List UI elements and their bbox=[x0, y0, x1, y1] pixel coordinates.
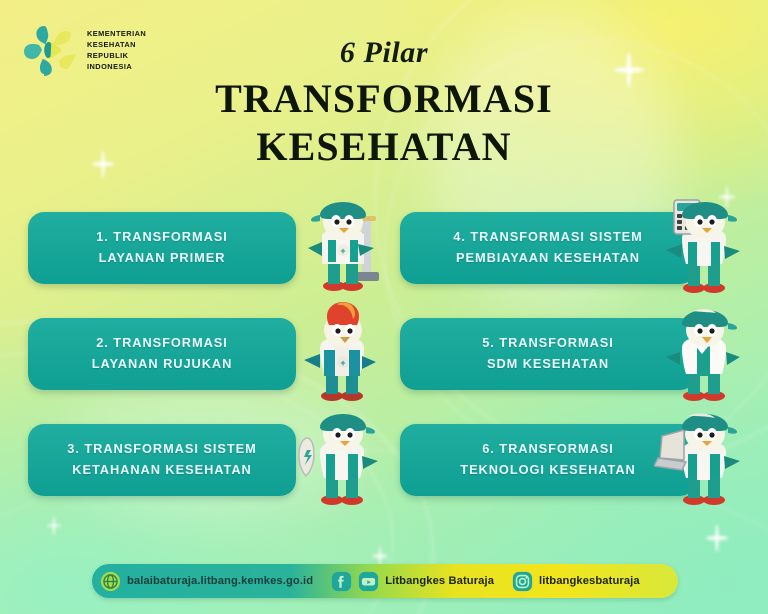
pillar-label-5: 5. TRANSFORMASI SDM KESEHATAN bbox=[482, 333, 614, 374]
pillar-label-6: 6. TRANSFORMASI TEKNOLOGI KESEHATAN bbox=[460, 439, 635, 480]
pillar-line-2: KETAHANAN KESEHATAN bbox=[67, 460, 256, 481]
pillar-card-1[interactable]: 1. TRANSFORMASI LAYANAN PRIMER bbox=[28, 212, 296, 284]
website-item[interactable]: balaibaturaja.litbang.kemkes.go.id bbox=[100, 571, 313, 592]
pillar-line-2: TEKNOLOGI KESEHATAN bbox=[460, 460, 635, 481]
pillar-cell-3: 3. TRANSFORMASI SISTEM KETAHANAN KESEHAT… bbox=[28, 408, 384, 514]
pillar-card-2[interactable]: 2. TRANSFORMASI LAYANAN RUJUKAN bbox=[28, 318, 296, 390]
instagram-icon bbox=[512, 571, 533, 592]
sparkle-icon bbox=[46, 516, 61, 535]
pillar-label-4: 4. TRANSFORMASI SISTEM PEMBIAYAAN KESEHA… bbox=[453, 227, 642, 268]
pillar-label-1: 1. TRANSFORMASI LAYANAN PRIMER bbox=[96, 227, 228, 268]
title-eyebrow: 6 Pilar bbox=[0, 38, 768, 68]
pillar-cell-1: 1. TRANSFORMASI LAYANAN PRIMER bbox=[28, 196, 384, 302]
pillar-line-2: SDM KESEHATAN bbox=[482, 354, 614, 375]
infographic-poster: KEMENTERIAN KESEHATAN REPUBLIK INDONESIA… bbox=[0, 0, 768, 614]
pillar-card-4[interactable]: 4. TRANSFORMASI SISTEM PEMBIAYAAN KESEHA… bbox=[400, 212, 696, 284]
pillar-card-5[interactable]: 5. TRANSFORMASI SDM KESEHATAN bbox=[400, 318, 696, 390]
svg-text:+: + bbox=[340, 246, 345, 256]
title-line-1: TRANSFORMASI bbox=[0, 74, 768, 124]
mascot-shield-icon bbox=[292, 406, 388, 514]
pillar-row: 2. TRANSFORMASI LAYANAN RUJUKAN bbox=[0, 302, 768, 408]
pillar-line-2: LAYANAN RUJUKAN bbox=[92, 354, 233, 375]
pillar-line-1: 4. TRANSFORMASI SISTEM bbox=[453, 227, 642, 248]
pillar-line-1: 5. TRANSFORMASI bbox=[482, 333, 614, 354]
svg-text:+: + bbox=[340, 358, 345, 368]
mascot-laptop-icon bbox=[654, 406, 750, 514]
page-title: 6 Pilar TRANSFORMASI KESEHATAN bbox=[0, 38, 768, 171]
pillar-line-2: PEMBIAYAAN KESEHATAN bbox=[453, 248, 642, 269]
pillar-line-1: 2. TRANSFORMASI bbox=[92, 333, 233, 354]
instagram-item[interactable]: litbangkesbaturaja bbox=[512, 571, 640, 592]
footer-contact-bar: balaibaturaja.litbang.kemkes.go.id Litba… bbox=[92, 564, 678, 598]
instagram-label: litbangkesbaturaja bbox=[539, 575, 640, 587]
pillar-line-2: LAYANAN PRIMER bbox=[96, 248, 228, 269]
pillar-label-2: 2. TRANSFORMASI LAYANAN RUJUKAN bbox=[92, 333, 233, 374]
sparkle-icon bbox=[372, 546, 387, 566]
pillar-card-6[interactable]: 6. TRANSFORMASI TEKNOLOGI KESEHATAN bbox=[400, 424, 696, 496]
social-item[interactable]: Litbangkes Baturaja bbox=[331, 571, 494, 592]
pillar-cell-4: 4. TRANSFORMASI SISTEM PEMBIAYAAN KESEHA… bbox=[400, 196, 744, 302]
mascot-red-helmet-icon: + bbox=[292, 300, 388, 408]
facebook-icon bbox=[331, 571, 352, 592]
mascot-height-measure-icon: + bbox=[292, 194, 388, 302]
pillar-cell-2: 2. TRANSFORMASI LAYANAN RUJUKAN bbox=[28, 302, 384, 408]
title-line-2: KESEHATAN bbox=[0, 122, 768, 172]
pillar-row: 3. TRANSFORMASI SISTEM KETAHANAN KESEHAT… bbox=[0, 408, 768, 514]
pillar-row: 1. TRANSFORMASI LAYANAN PRIMER bbox=[0, 196, 768, 302]
youtube-icon bbox=[358, 571, 379, 592]
mascot-doctor-coat-icon bbox=[654, 300, 750, 408]
pillar-line-1: 1. TRANSFORMASI bbox=[96, 227, 228, 248]
globe-icon bbox=[100, 571, 121, 592]
pillar-line-1: 3. TRANSFORMASI SISTEM bbox=[67, 439, 256, 460]
social-label: Litbangkes Baturaja bbox=[385, 575, 494, 587]
pillar-label-3: 3. TRANSFORMASI SISTEM KETAHANAN KESEHAT… bbox=[67, 439, 256, 480]
sparkle-icon bbox=[706, 524, 728, 552]
pillar-line-1: 6. TRANSFORMASI bbox=[460, 439, 635, 460]
mascot-calculator-icon bbox=[654, 194, 750, 302]
pillar-cell-6: 6. TRANSFORMASI TEKNOLOGI KESEHATAN bbox=[400, 408, 744, 514]
pillars-list: 1. TRANSFORMASI LAYANAN PRIMER bbox=[0, 196, 768, 514]
pillar-cell-5: 5. TRANSFORMASI SDM KESEHATAN bbox=[400, 302, 744, 408]
website-label: balaibaturaja.litbang.kemkes.go.id bbox=[127, 575, 313, 587]
pillar-card-3[interactable]: 3. TRANSFORMASI SISTEM KETAHANAN KESEHAT… bbox=[28, 424, 296, 496]
